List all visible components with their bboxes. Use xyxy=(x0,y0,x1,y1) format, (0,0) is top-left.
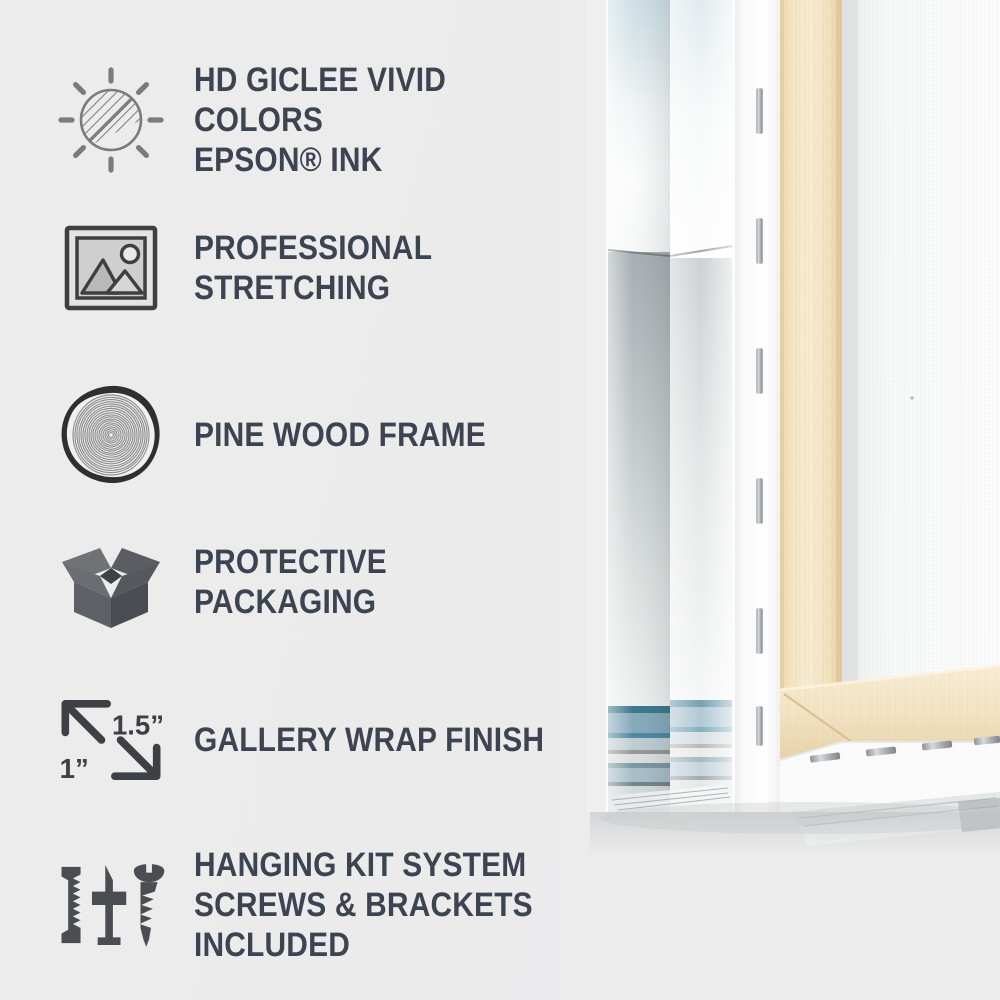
feature-list: HD GICLEE VIVID COLORS EPSON® INK xyxy=(0,0,620,1000)
feature-label-pine-wood-frame: PINE WOOD FRAME xyxy=(194,415,486,455)
feature-row-pine-wood-frame: PINE WOOD FRAME xyxy=(52,382,526,488)
feature-label-gallery-wrap-finish: GALLERY WRAP FINISH xyxy=(194,720,544,760)
feature-row-professional-stretching: PROFESSIONAL STRETCHING xyxy=(52,222,620,314)
open-box-icon xyxy=(52,532,170,632)
product-photo xyxy=(560,0,1000,1000)
depth-arrows-icon: 1.5” 1” xyxy=(52,688,170,792)
depth-label-upper: 1.5” xyxy=(112,709,164,740)
feature-label-protective-packaging: PROTECTIVE PACKAGING xyxy=(194,542,569,622)
feature-label-hanging-kit: HANGING KIT SYSTEM SCREWS & BRACKETS INC… xyxy=(194,845,569,965)
feature-row-hd-giclee: HD GICLEE VIVID COLORS EPSON® INK xyxy=(52,60,620,180)
sun-icon xyxy=(52,64,170,176)
depth-label-lower: 1” xyxy=(60,753,89,784)
framed-picture-icon xyxy=(52,222,170,314)
feature-row-gallery-wrap-finish: 1.5” 1” GALLERY WRAP FINISH xyxy=(52,688,592,792)
feature-row-hanging-kit: HANGING KIT SYSTEM SCREWS & BRACKETS INC… xyxy=(52,845,620,965)
canvas-back-panel xyxy=(842,0,1000,742)
feature-label-hd-giclee: HD GICLEE VIVID COLORS EPSON® INK xyxy=(194,60,569,180)
tree-rings-icon xyxy=(52,382,170,488)
feature-row-protective-packaging: PROTECTIVE PACKAGING xyxy=(52,532,620,632)
hanging-hardware-icon xyxy=(52,857,170,953)
infographic-canvas: HD GICLEE VIVID COLORS EPSON® INK xyxy=(0,0,1000,1000)
pine-stretcher-bar-vertical xyxy=(780,0,842,760)
feature-label-professional-stretching: PROFESSIONAL STRETCHING xyxy=(194,228,569,308)
